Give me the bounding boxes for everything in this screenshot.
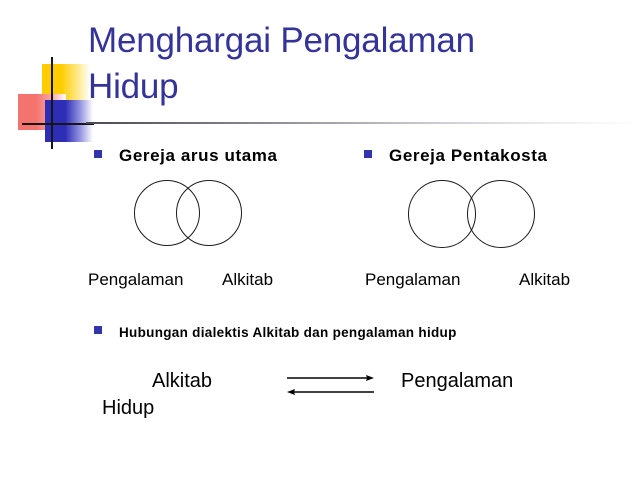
bullet-square-icon <box>364 150 372 158</box>
bullet-square-icon <box>94 326 102 334</box>
bullet-square-icon <box>94 150 102 158</box>
bullet-item-hubungan-dialektis: Hubungan dialektis Alkitab dan pengalama… <box>94 325 457 340</box>
venn-circle-left-alkitab <box>176 180 242 246</box>
vertical-line-icon <box>51 57 53 149</box>
design-mark <box>18 57 94 149</box>
bullet-item-gereja-pentakosta: Gereja Pentakosta <box>364 146 548 166</box>
bidirectional-arrows-icon <box>286 372 376 402</box>
title-underline-rule <box>86 122 638 124</box>
dialectic-relation-diagram: Alkitab Hidup Pengalaman <box>88 368 608 438</box>
horizontal-line-icon <box>22 123 94 125</box>
caption-left-alkitab: Alkitab <box>222 270 273 290</box>
slide-title: Menghargai Pengalaman Hidup <box>88 18 588 110</box>
venn-circle-right-alkitab <box>467 180 535 248</box>
venn-circle-right-pengalaman <box>408 180 476 248</box>
relation-term-hidup: Hidup <box>102 397 154 420</box>
caption-right-alkitab: Alkitab <box>519 270 570 290</box>
bullet-label: Gereja arus utama <box>119 146 278 166</box>
bullet-item-gereja-arus-utama: Gereja arus utama <box>94 146 278 166</box>
relation-term-pengalaman: Pengalaman <box>401 370 513 393</box>
bullet-label: Gereja Pentakosta <box>389 146 548 166</box>
caption-right-pengalaman: Pengalaman <box>365 270 460 290</box>
caption-left-pengalaman: Pengalaman <box>88 270 183 290</box>
bullet-label: Hubungan dialektis Alkitab dan pengalama… <box>119 325 457 340</box>
relation-term-alkitab: Alkitab <box>152 370 212 393</box>
slide-canvas: Menghargai Pengalaman Hidup Gereja arus … <box>0 0 638 479</box>
